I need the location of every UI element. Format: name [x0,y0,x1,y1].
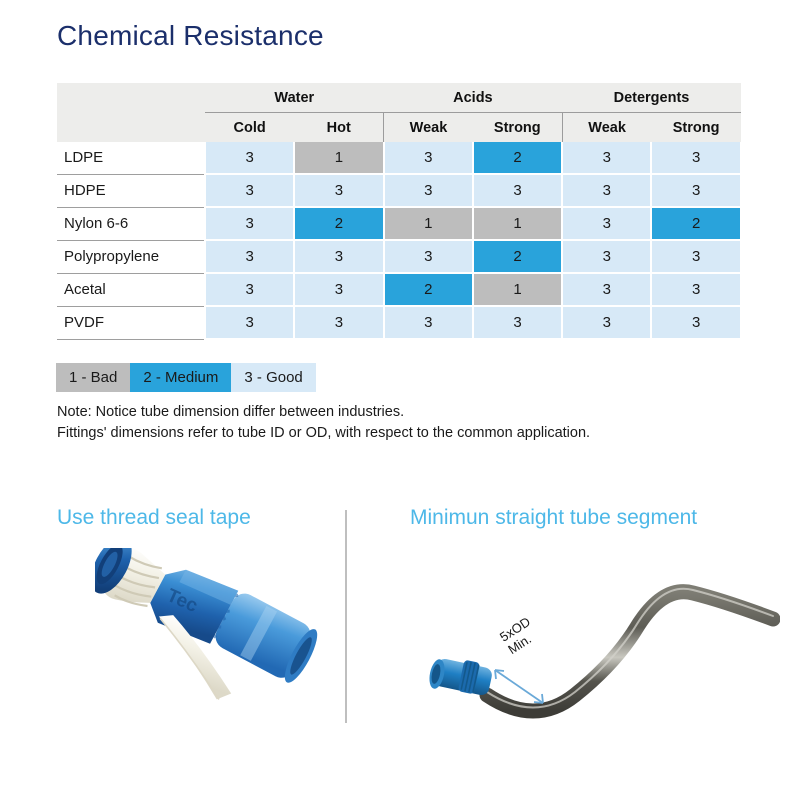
table-group-header-row: Water Acids Detergents [57,83,741,113]
table-row: Acetal332133 [57,273,741,306]
rating-cell: 3 [651,273,740,306]
rating-cell: 2 [384,273,473,306]
rating-cell: 3 [562,240,651,273]
thread-seal-tape-photo: Tec [95,548,345,733]
rating-cell: 3 [651,174,740,207]
note-line-2: Fittings' dimensions refer to tube ID or… [57,423,590,444]
sub-header-detergents-strong: Strong [651,113,740,143]
chemical-resistance-table-container: Water Acids Detergents Cold Hot Weak Str… [57,83,741,340]
panel-divider [345,510,347,723]
group-header-acids: Acids [384,83,563,113]
rating-cell: 3 [384,174,473,207]
rating-cell: 2 [294,207,383,240]
rating-cell: 3 [205,142,294,174]
rating-cell: 3 [384,240,473,273]
rating-cell: 3 [205,174,294,207]
rating-cell: 3 [294,306,383,339]
rating-cell: 3 [562,174,651,207]
rating-cell: 3 [294,273,383,306]
table-head: Water Acids Detergents Cold Hot Weak Str… [57,83,741,142]
legend-item-bad: 1 - Bad [56,363,130,392]
panel-right-heading: Minimun straight tube segment [410,505,780,531]
material-name-cell: LDPE [57,142,205,174]
rating-cell: 3 [651,142,740,174]
table-row: PVDF333333 [57,306,741,339]
rating-cell: 3 [205,207,294,240]
legend-item-good: 3 - Good [231,363,315,392]
panel-straight-tube-segment: Minimun straight tube segment [410,505,780,531]
rating-cell: 3 [562,207,651,240]
table-sub-header-row: Cold Hot Weak Strong Weak Strong [57,113,741,143]
rating-cell: 3 [651,240,740,273]
table-row: LDPE313233 [57,142,741,174]
rating-cell: 3 [562,306,651,339]
material-name-cell: HDPE [57,174,205,207]
rating-cell: 3 [473,174,562,207]
rating-cell: 3 [384,142,473,174]
group-header-water: Water [205,83,384,113]
rating-cell: 1 [384,207,473,240]
rating-cell: 3 [205,273,294,306]
rating-cell: 1 [473,273,562,306]
legend-item-medium: 2 - Medium [130,363,231,392]
chemical-resistance-table: Water Acids Detergents Cold Hot Weak Str… [57,83,742,340]
table-row: Polypropylene333233 [57,240,741,273]
material-name-cell: Acetal [57,273,205,306]
table-row: Nylon 6-6321132 [57,207,741,240]
table-body: LDPE313233HDPE333333Nylon 6-6321132Polyp… [57,142,741,339]
rating-cell: 3 [205,306,294,339]
table-row: HDPE333333 [57,174,741,207]
rating-cell: 3 [651,306,740,339]
sub-header-detergents-weak: Weak [562,113,651,143]
page-title: Chemical Resistance [57,20,324,52]
material-name-cell: Polypropylene [57,240,205,273]
rating-cell: 1 [473,207,562,240]
sub-header-acids-weak: Weak [384,113,473,143]
sub-header-blank [57,113,205,143]
rating-cell: 2 [651,207,740,240]
material-name-cell: Nylon 6-6 [57,207,205,240]
table-corner-cell [57,83,205,113]
rating-cell: 3 [294,174,383,207]
material-name-cell: PVDF [57,306,205,339]
rating-cell: 3 [562,273,651,306]
panel-left-heading: Use thread seal tape [57,505,337,531]
rating-cell: 3 [384,306,473,339]
rating-cell: 3 [294,240,383,273]
rating-cell: 3 [205,240,294,273]
rating-cell: 3 [473,306,562,339]
rating-cell: 2 [473,240,562,273]
rating-legend: 1 - Bad 2 - Medium 3 - Good [56,363,316,392]
note-block: Note: Notice tube dimension differ betwe… [57,402,590,444]
straight-tube-segment-photo [425,555,780,735]
panel-thread-seal-tape: Use thread seal tape [57,505,337,531]
sub-header-acids-strong: Strong [473,113,562,143]
group-header-detergents: Detergents [562,83,741,113]
tube-fitting [427,657,493,696]
rating-cell: 1 [294,142,383,174]
note-line-1: Note: Notice tube dimension differ betwe… [57,402,590,423]
rating-cell: 2 [473,142,562,174]
rating-cell: 3 [562,142,651,174]
sub-header-water-cold: Cold [205,113,294,143]
sub-header-water-hot: Hot [294,113,383,143]
